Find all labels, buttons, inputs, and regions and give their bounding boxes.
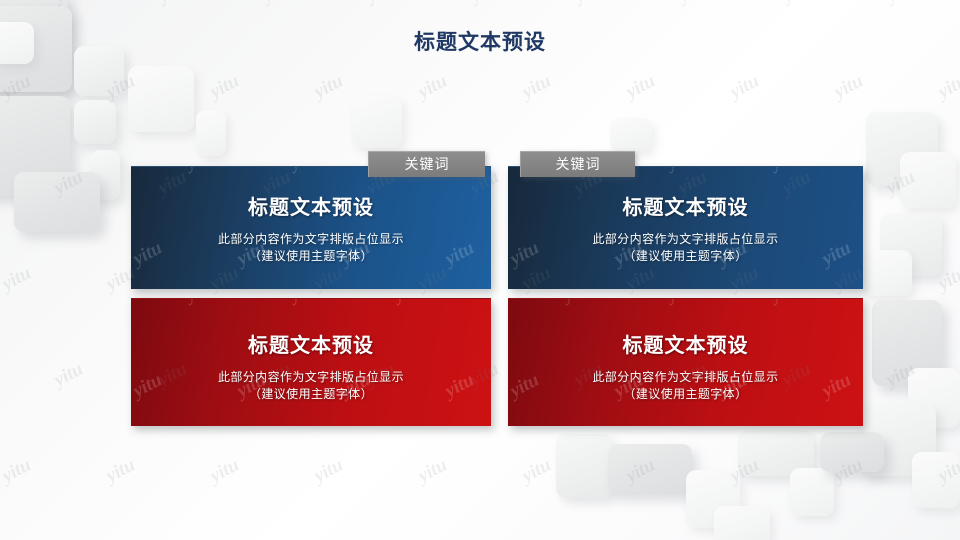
background-square: [608, 444, 692, 494]
panel-red-left[interactable]: yituyituyituyituyituyituyituyituyituyitu…: [131, 298, 491, 426]
background-square: [900, 152, 956, 208]
panel-red-right[interactable]: yituyituyituyituyituyituyituyituyituyitu…: [508, 298, 863, 426]
panel-blue-right-line2: （建议使用主题字体）: [508, 248, 863, 265]
background-square: [862, 250, 912, 296]
tab-keyword-left-label: 关键词: [405, 156, 450, 172]
background-square: [790, 468, 834, 516]
background-square: [556, 434, 612, 498]
background-square: [196, 110, 226, 156]
page-title: 标题文本预设: [0, 26, 960, 56]
tab-keyword-right-label: 关键词: [556, 156, 601, 172]
background-square: [820, 432, 884, 472]
tab-keyword-right[interactable]: 关键词: [520, 151, 635, 177]
background-square: [912, 452, 960, 508]
panel-blue-left-title: 标题文本预设: [131, 191, 491, 220]
background-square: [352, 96, 402, 148]
panel-red-right-title: 标题文本预设: [508, 329, 863, 358]
panel-red-right-line2: （建议使用主题字体）: [508, 386, 863, 403]
background-square: [128, 66, 194, 132]
panel-red-left-line1: 此部分内容作为文字排版占位显示: [131, 369, 491, 386]
background-square: [14, 172, 100, 232]
background-square: [714, 506, 770, 540]
panel-blue-left[interactable]: yituyituyituyituyituyituyituyituyituyitu…: [131, 166, 491, 289]
panel-blue-right-title: 标题文本预设: [508, 191, 863, 220]
panel-blue-right[interactable]: yituyituyituyituyituyituyituyituyituyitu…: [508, 166, 863, 289]
background-square: [74, 100, 116, 144]
panel-blue-left-line2: （建议使用主题字体）: [131, 248, 491, 265]
panel-blue-right-line1: 此部分内容作为文字排版占位显示: [508, 231, 863, 248]
panel-blue-left-line1: 此部分内容作为文字排版占位显示: [131, 231, 491, 248]
panel-red-right-line1: 此部分内容作为文字排版占位显示: [508, 369, 863, 386]
background-square: [610, 118, 652, 152]
panel-red-left-title: 标题文本预设: [131, 329, 491, 358]
slide-canvas: 标题文本预设 关键词 关键词 yituyituyituyituyituyituy…: [0, 0, 960, 540]
panel-red-left-line2: （建议使用主题字体）: [131, 386, 491, 403]
tab-keyword-left[interactable]: 关键词: [368, 151, 485, 177]
